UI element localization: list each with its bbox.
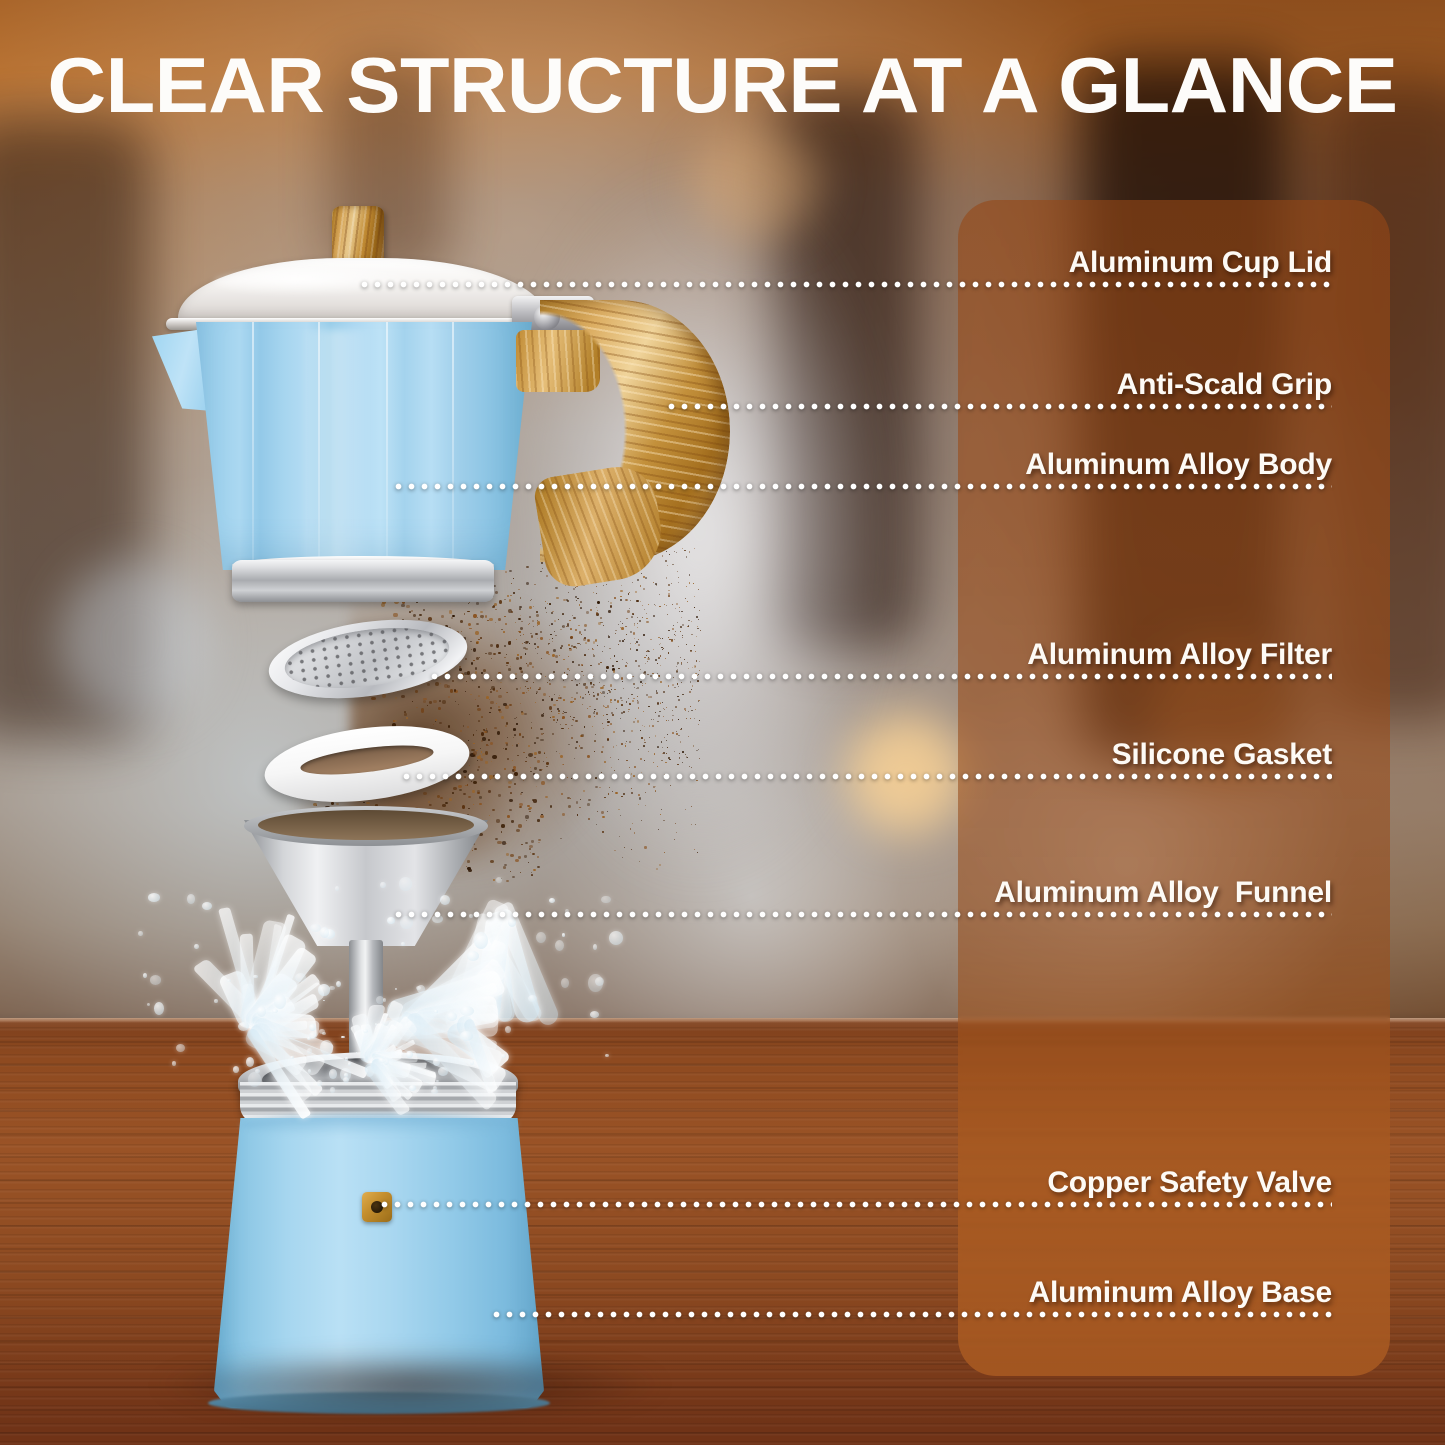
water-droplet: [172, 1061, 176, 1066]
coffee-ground-particle: [576, 684, 578, 686]
coffee-ground-particle: [685, 809, 687, 810]
water-droplet: [274, 994, 286, 1009]
coffee-ground-particle: [382, 694, 386, 698]
coffee-ground-particle: [549, 683, 551, 685]
coffee-ground-particle: [529, 807, 532, 809]
water-droplet: [501, 1054, 506, 1058]
coffee-ground-particle: [331, 802, 334, 805]
coffee-ground-particle: [645, 683, 646, 684]
coffee-ground-particle: [488, 790, 491, 793]
water-droplet: [202, 902, 212, 910]
water-droplet: [344, 1073, 349, 1077]
coffee-ground-particle: [453, 787, 457, 791]
coffee-ground-particle: [463, 793, 466, 796]
coffee-ground-particle: [689, 582, 691, 583]
water-droplet: [375, 1023, 377, 1026]
coffee-ground-particle: [597, 811, 598, 812]
coffee-ground-particle: [492, 809, 495, 811]
body-facet-1: [252, 322, 254, 570]
coffee-ground-particle: [596, 586, 597, 587]
coffee-ground-particle: [511, 583, 512, 584]
water-droplet: [528, 995, 537, 1002]
coffee-ground-particle: [479, 796, 483, 799]
coffee-ground-particle: [696, 780, 697, 781]
coffee-ground-particle: [633, 683, 635, 685]
coffee-ground-particle: [577, 814, 579, 816]
water-droplet: [387, 917, 394, 924]
coffee-ground-particle: [693, 583, 694, 584]
water-droplet: [467, 951, 478, 961]
coffee-ground-particle: [645, 805, 646, 806]
coffee-ground-particle: [520, 793, 522, 795]
coffee-ground-particle: [568, 805, 571, 808]
coffee-ground-particle: [678, 577, 679, 578]
water-droplet: [257, 1006, 266, 1017]
coffee-ground-particle: [406, 605, 410, 609]
coffee-ground-particle: [423, 609, 425, 611]
infographic-canvas: CLEAR STRUCTURE AT A GLANCE: [0, 0, 1445, 1445]
coffee-ground-particle: [452, 680, 454, 683]
coffee-ground-particle: [632, 582, 633, 583]
coffee-ground-particle: [661, 809, 662, 810]
water-droplet: [307, 1037, 311, 1040]
coffee-ground-particle: [489, 815, 490, 816]
water-droplet: [609, 931, 624, 945]
coffee-ground-particle: [668, 584, 670, 586]
callout-aluminum-alloy-body: Aluminum Alloy Body: [392, 398, 1332, 490]
coffee-ground-particle: [691, 806, 693, 807]
water-droplet: [272, 1009, 278, 1014]
coffee-ground-particle: [601, 811, 604, 814]
coffee-ground-particle: [526, 820, 527, 821]
coffee-ground-particle: [588, 818, 590, 820]
coffee-ground-particle: [620, 815, 621, 816]
callout-label-copper-safety-valve: Copper Safety Valve: [1047, 1166, 1332, 1200]
coffee-ground-particle: [677, 683, 679, 685]
coffee-ground-particle: [445, 802, 448, 804]
coffee-ground-particle: [336, 803, 339, 806]
coffee-ground-particle: [667, 565, 669, 567]
coffee-ground-particle: [608, 793, 610, 795]
coffee-ground-particle: [678, 686, 679, 687]
water-droplet: [348, 1062, 351, 1065]
coffee-ground-particle: [621, 585, 622, 586]
water-droplet: [474, 932, 488, 949]
callout-label-aluminum-cup-lid: Aluminum Cup Lid: [1069, 246, 1332, 280]
coffee-ground-particle: [533, 799, 537, 803]
coffee-ground-particle: [452, 792, 454, 794]
coffee-ground-particle: [498, 794, 501, 797]
coffee-ground-particle: [479, 803, 481, 805]
coffee-ground-particle: [529, 811, 531, 812]
callout-label-anti-scald-grip: Anti-Scald Grip: [1117, 368, 1332, 402]
coffee-ground-particle: [642, 685, 643, 686]
coffee-ground-particle: [623, 793, 625, 795]
coffee-ground-particle: [423, 792, 428, 796]
coffee-ground-particle: [472, 790, 475, 794]
callout-aluminum-alloy-filter: Aluminum Alloy Filter: [428, 588, 1332, 680]
coffee-ground-particle: [429, 804, 431, 805]
coffee-ground-particle: [579, 683, 580, 684]
pot-ground-shadow: [150, 1350, 670, 1420]
coffee-ground-particle: [440, 683, 441, 684]
coffee-ground-particle: [465, 785, 467, 787]
water-droplet: [561, 978, 569, 988]
coffee-ground-particle: [514, 783, 517, 786]
callout-aluminum-alloy-base: Aluminum Alloy Base: [490, 1226, 1332, 1318]
coffee-ground-particle: [459, 789, 462, 791]
coffee-ground-particle: [695, 824, 696, 825]
coffee-ground-particle: [655, 786, 656, 787]
callout-label-aluminum-alloy-body: Aluminum Alloy Body: [1025, 448, 1332, 482]
coffee-ground-particle: [440, 797, 443, 799]
coffee-ground-particle: [468, 796, 471, 798]
water-droplet: [562, 933, 565, 937]
coffee-ground-particle: [411, 610, 413, 613]
coffee-ground-particle: [467, 784, 469, 786]
body-facet-3: [386, 322, 388, 570]
coffee-ground-particle: [579, 807, 581, 808]
coffee-ground-particle: [570, 798, 571, 799]
leader-line-silicone-gasket: [400, 773, 1332, 780]
coffee-ground-particle: [449, 798, 452, 800]
coffee-ground-particle: [462, 805, 465, 809]
water-droplet: [329, 986, 334, 990]
coffee-ground-particle: [508, 781, 512, 784]
coffee-ground-particle: [473, 804, 474, 805]
coffee-ground-particle: [618, 809, 620, 811]
coffee-ground-particle: [596, 824, 597, 825]
coffee-ground-particle: [500, 682, 502, 683]
coffee-ground-particle: [401, 604, 404, 608]
coffee-ground-particle: [587, 803, 590, 806]
coffee-ground-particle: [525, 815, 530, 819]
coffee-ground-particle: [655, 791, 656, 792]
callout-copper-safety-valve: Copper Safety Valve: [378, 1116, 1332, 1208]
coffee-ground-particle: [672, 684, 674, 686]
coffee-ground-particle: [526, 566, 529, 569]
water-droplet: [433, 1058, 440, 1066]
callout-label-silicone-gasket: Silicone Gasket: [1112, 738, 1332, 772]
coffee-ground-particle: [561, 793, 563, 795]
coffee-ground-particle: [526, 582, 529, 586]
coffee-ground-particle: [645, 792, 646, 793]
water-droplet: [227, 979, 231, 982]
coffee-ground-particle: [653, 786, 655, 788]
water-droplet: [154, 1002, 164, 1015]
coffee-ground-particle: [509, 570, 512, 572]
coffee-ground-particle: [505, 571, 507, 573]
coffee-ground-particle: [525, 686, 526, 687]
coffee-ground-particle: [604, 797, 606, 798]
body-highlight: [300, 330, 372, 562]
coffee-ground-particle: [567, 797, 570, 799]
coffee-ground-particle: [363, 802, 365, 804]
coffee-ground-particle: [458, 785, 462, 788]
water-droplet: [438, 1067, 449, 1076]
water-droplet: [320, 1040, 333, 1055]
page-title: CLEAR STRUCTURE AT A GLANCE: [0, 46, 1445, 124]
water-droplet: [395, 988, 397, 991]
coffee-ground-particle: [477, 790, 480, 793]
water-droplet: [246, 1057, 254, 1067]
water-droplet: [383, 1058, 389, 1065]
water-droplet: [253, 975, 258, 979]
callout-label-aluminum-alloy-base: Aluminum Alloy Base: [1029, 1276, 1332, 1310]
callout-aluminum-cup-lid: Aluminum Cup Lid: [358, 196, 1332, 288]
coffee-ground-particle: [562, 813, 565, 816]
coffee-ground-particle: [610, 684, 613, 686]
coffee-ground-particle: [645, 577, 647, 579]
leader-line-aluminum-alloy-base: [490, 1311, 1332, 1318]
coffee-ground-particle: [668, 685, 670, 686]
coffee-ground-particle: [660, 681, 662, 683]
coffee-ground-particle: [550, 805, 552, 808]
coffee-ground-particle: [526, 681, 528, 683]
coffee-ground-particle: [395, 697, 397, 699]
coffee-ground-particle: [427, 683, 430, 686]
coffee-ground-particle: [468, 808, 470, 809]
coffee-ground-particle: [607, 811, 608, 812]
leader-line-aluminum-alloy-body: [392, 483, 1332, 490]
coffee-ground-particle: [697, 680, 699, 682]
coffee-ground-particle: [648, 783, 650, 785]
water-droplet: [433, 1086, 437, 1090]
coffee-ground-particle: [638, 804, 639, 805]
coffee-ground-particle: [533, 682, 534, 683]
coffee-ground-particle: [540, 815, 543, 818]
water-droplet: [590, 1011, 599, 1018]
water-droplet: [406, 1051, 413, 1058]
coffee-ground-particle: [639, 797, 641, 799]
coffee-ground-particle: [537, 819, 540, 821]
coffee-ground-particle: [442, 804, 445, 807]
water-droplet: [409, 1085, 416, 1091]
coffee-ground-particle: [599, 787, 601, 789]
coffee-ground-particle: [660, 814, 661, 815]
coffee-ground-particle: [593, 684, 594, 685]
coffee-ground-particle: [511, 820, 515, 823]
coffee-ground-particle: [606, 584, 607, 585]
water-droplet: [470, 1060, 474, 1064]
coffee-ground-particle: [681, 682, 682, 683]
coffee-ground-particle: [519, 803, 523, 807]
callout-silicone-gasket: Silicone Gasket: [400, 688, 1332, 780]
coffee-ground-particle: [534, 584, 535, 585]
coffee-ground-particle: [641, 820, 642, 821]
coffee-ground-particle: [686, 586, 687, 587]
coffee-ground-particle: [692, 685, 694, 687]
coffee-ground-particle: [666, 577, 668, 579]
coffee-ground-particle: [670, 785, 671, 786]
coffee-ground-particle: [545, 796, 547, 798]
coffee-ground-particle: [690, 681, 692, 683]
coffee-ground-particle: [621, 796, 623, 797]
leader-line-aluminum-alloy-funnel: [392, 911, 1332, 918]
coffee-ground-particle: [509, 809, 512, 811]
bokeh-light-3: [60, 560, 210, 720]
coffee-ground-particle: [541, 781, 544, 785]
callout-label-aluminum-alloy-funnel: Aluminum Alloy Funnel: [994, 876, 1332, 910]
water-droplet: [417, 985, 425, 993]
callout-aluminum-alloy-funnel: Aluminum Alloy Funnel: [392, 826, 1332, 918]
water-droplet: [138, 931, 143, 936]
coffee-ground-particle: [672, 564, 673, 565]
leader-line-aluminum-cup-lid: [358, 281, 1332, 288]
water-droplet: [214, 999, 218, 1003]
coffee-ground-particle: [510, 792, 512, 794]
coffee-ground-particle: [513, 578, 514, 579]
coffee-ground-particle: [612, 791, 613, 792]
coffee-ground-particle: [675, 823, 677, 824]
coffee-ground-particle: [404, 794, 405, 795]
coffee-ground-particle: [689, 574, 691, 576]
coffee-ground-particle: [546, 575, 548, 577]
coffee-ground-particle: [428, 801, 430, 803]
water-droplet: [593, 944, 598, 950]
coffee-ground-particle: [602, 816, 605, 818]
coffee-ground-particle: [677, 571, 678, 572]
coffee-ground-particle: [631, 792, 633, 794]
coffee-ground-particle: [637, 579, 639, 581]
coffee-ground-particle: [496, 819, 500, 822]
water-droplet: [143, 973, 148, 978]
water-droplet: [376, 996, 384, 1004]
coffee-ground-particle: [638, 794, 640, 796]
coffee-ground-particle: [549, 680, 550, 681]
water-droplet: [330, 1087, 335, 1093]
leader-line-copper-safety-valve: [378, 1201, 1332, 1208]
coffee-ground-particle: [641, 573, 642, 574]
coffee-ground-particle: [435, 682, 439, 687]
coffee-ground-particle: [394, 720, 397, 723]
coffee-ground-particle: [366, 802, 370, 805]
coffee-ground-particle: [371, 697, 376, 701]
coffee-ground-particle: [599, 682, 600, 683]
coffee-ground-particle: [609, 787, 610, 788]
coffee-ground-particle: [576, 801, 579, 804]
callout-label-aluminum-alloy-filter: Aluminum Alloy Filter: [1027, 638, 1332, 672]
coffee-ground-particle: [595, 786, 598, 788]
coffee-ground-particle: [508, 786, 510, 788]
coffee-ground-particle: [583, 790, 585, 792]
water-droplet: [329, 1069, 337, 1079]
coffee-ground-particle: [393, 613, 397, 618]
coffee-ground-particle: [536, 786, 537, 787]
callout-anti-scald-grip: Anti-Scald Grip: [665, 318, 1332, 410]
coffee-ground-particle: [663, 820, 664, 821]
coffee-ground-particle: [413, 614, 416, 617]
coffee-ground-particle: [678, 582, 679, 583]
coffee-ground-particle: [466, 681, 467, 682]
coffee-ground-particle: [540, 571, 541, 572]
water-droplet: [434, 1010, 438, 1014]
coffee-ground-particle: [547, 682, 548, 683]
water-droplet: [187, 894, 195, 904]
coffee-ground-particle: [671, 583, 672, 584]
coffee-ground-particle: [419, 614, 422, 617]
coffee-ground-particle: [580, 799, 581, 800]
coffee-ground-particle: [622, 681, 623, 682]
coffee-ground-particle: [509, 799, 513, 802]
water-droplet: [290, 1056, 294, 1059]
water-droplet: [447, 1012, 457, 1021]
coffee-ground-particle: [653, 582, 655, 584]
coffee-ground-particle: [473, 781, 477, 784]
coffee-ground-particle: [631, 788, 632, 789]
coffee-ground-particle: [640, 585, 642, 587]
water-droplet: [150, 975, 161, 985]
coffee-ground-particle: [615, 792, 618, 794]
coffee-ground-particle: [507, 815, 510, 818]
coffee-ground-particle: [542, 568, 543, 569]
coffee-ground-particle: [603, 585, 604, 586]
coffee-ground-particle: [632, 823, 633, 824]
coffee-ground-particle: [588, 799, 591, 802]
water-droplet: [401, 942, 405, 947]
leader-line-aluminum-alloy-filter: [428, 673, 1332, 680]
